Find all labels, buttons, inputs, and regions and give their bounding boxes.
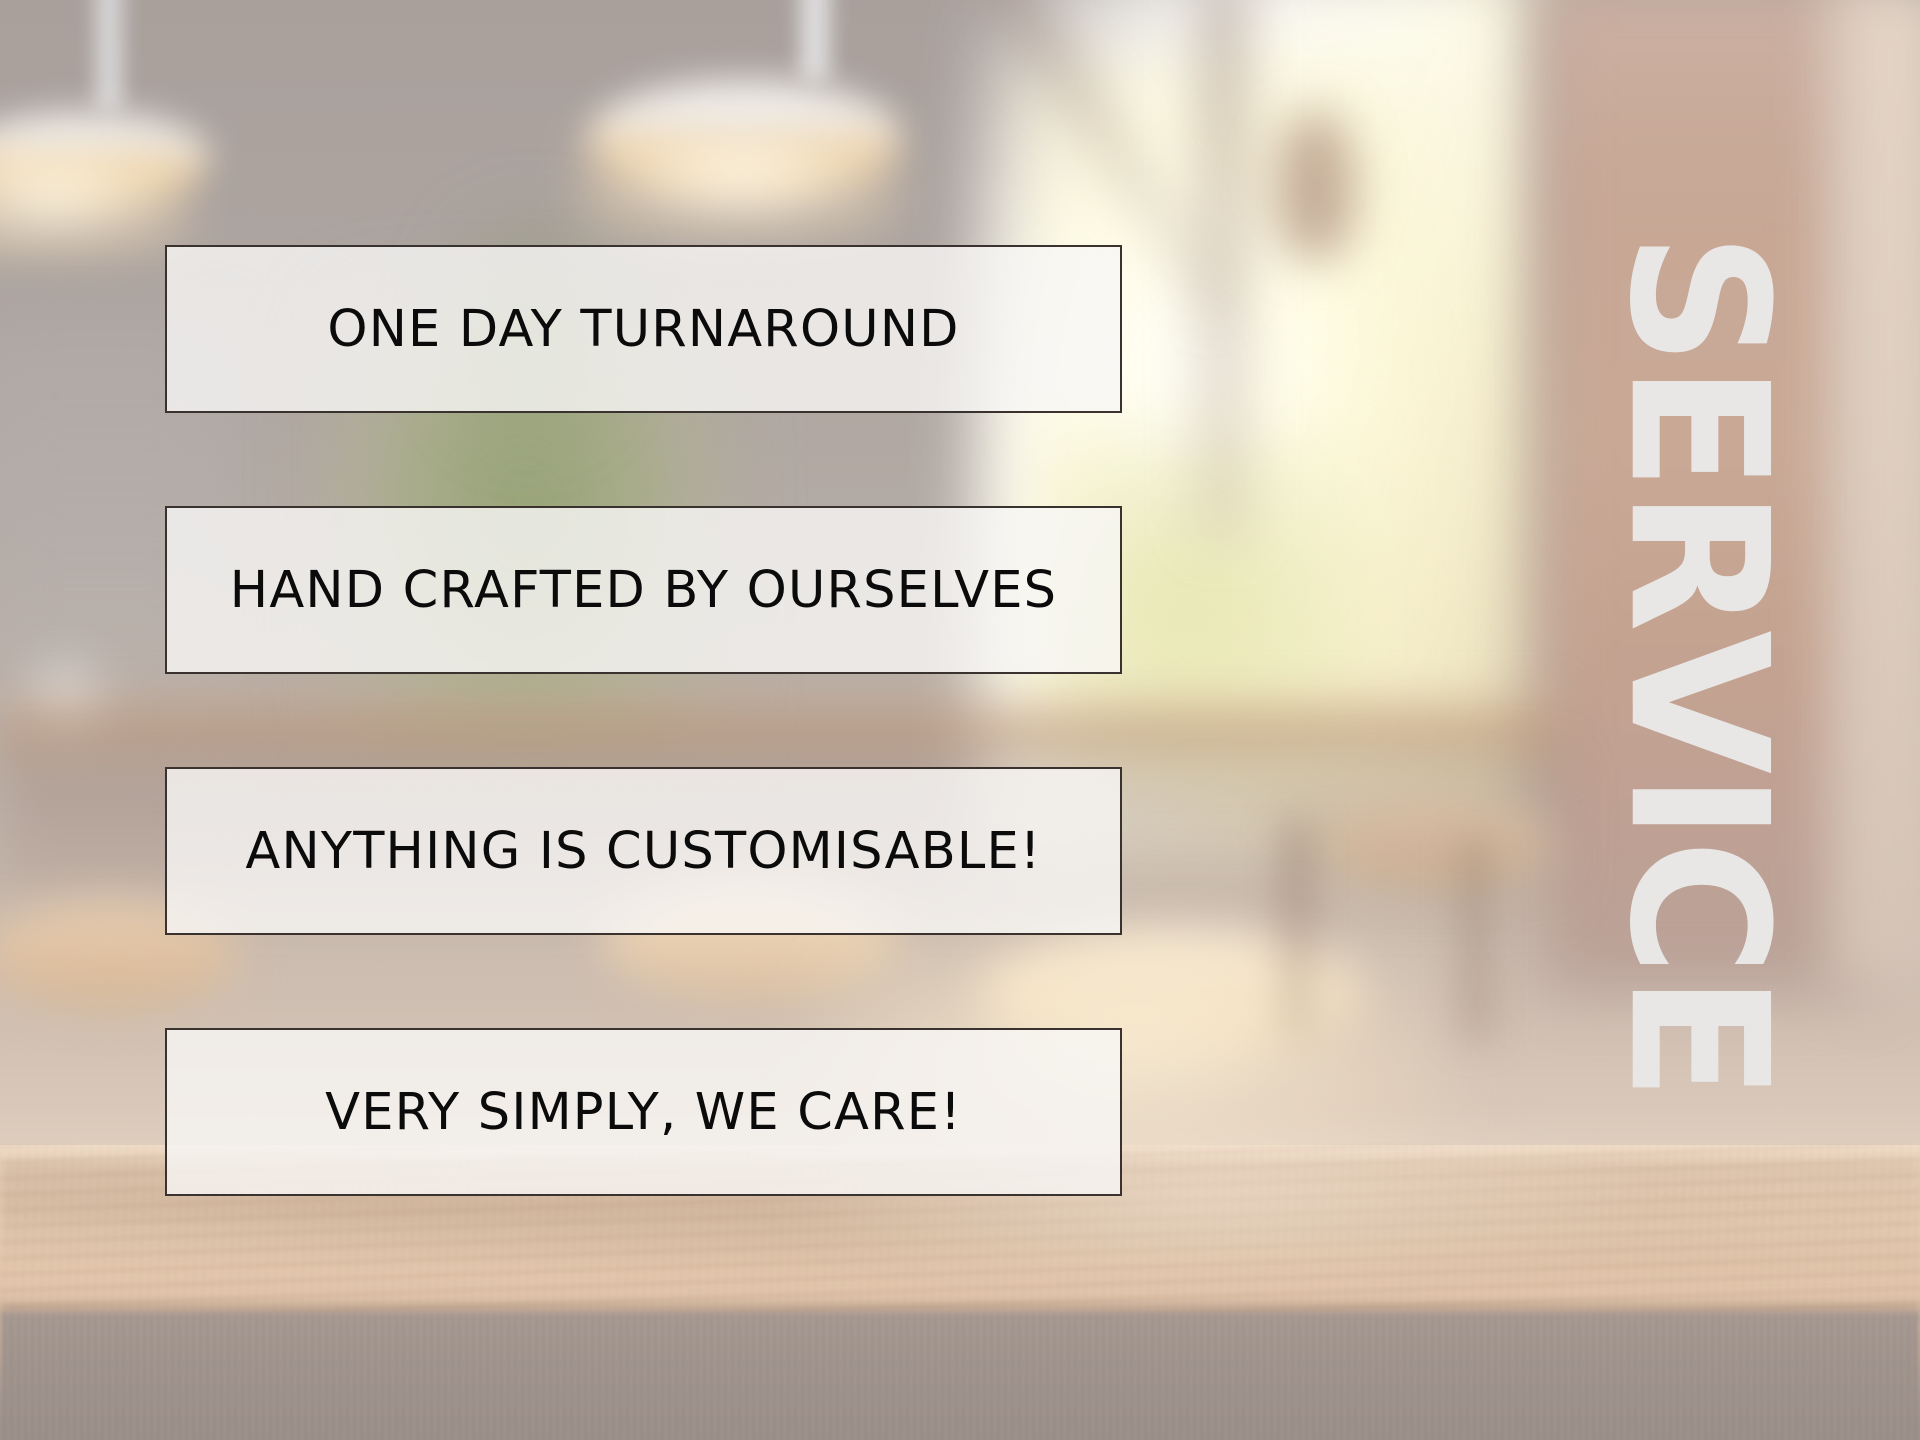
background-right-edge [1830, 0, 1920, 990]
background-right-column [1540, 0, 1870, 990]
feature-label-4: VERY SIMPLY, WE CARE! [325, 1083, 962, 1142]
wood-front-texture [0, 1312, 1920, 1440]
feature-box-1[interactable]: ONE DAY TURNAROUND [165, 245, 1122, 413]
background-silhouette [1275, 110, 1355, 260]
feature-box-4[interactable]: VERY SIMPLY, WE CARE! [165, 1028, 1122, 1196]
pendant-lamp-glow-left [0, 150, 190, 255]
pendant-lamp-cord-left [96, 0, 122, 110]
slide-canvas: SERVICE ONE DAY TURNAROUND HAND CRAFTED … [0, 0, 1920, 1440]
feature-label-2: HAND CRAFTED BY OURSELVES [230, 561, 1057, 620]
background-photo [0, 0, 1920, 1440]
feature-box-3[interactable]: ANYTHING IS CUSTOMISABLE! [165, 767, 1122, 935]
pendant-lamp-glow-center [580, 130, 900, 240]
background-bench-leg-2 [1460, 840, 1490, 1040]
background-bench-top [0, 700, 1560, 762]
feature-label-1: ONE DAY TURNAROUND [327, 300, 959, 359]
pendant-lamp-cord-center [800, 0, 830, 80]
feature-label-3: ANYTHING IS CUSTOMISABLE! [245, 822, 1041, 881]
feature-box-2[interactable]: HAND CRAFTED BY OURSELVES [165, 506, 1122, 674]
background-stool-4 [1320, 800, 1550, 890]
